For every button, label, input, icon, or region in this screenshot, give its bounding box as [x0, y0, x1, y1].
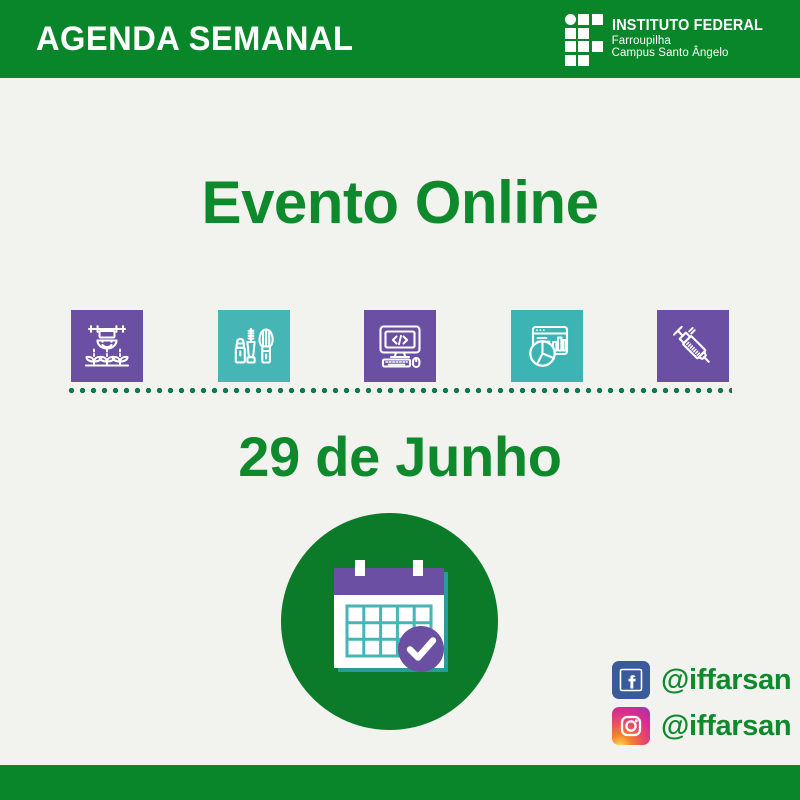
social-row-instagram[interactable]: @iffarsan [612, 707, 791, 745]
syringe-icon [657, 310, 729, 382]
brand-text: INSTITUTO FEDERAL Farroupilha Campus San… [612, 18, 774, 60]
dotted-divider [66, 387, 732, 394]
brand-campus-region: Farroupilha [612, 35, 774, 47]
instituto-federal-logo-icon [565, 14, 603, 64]
social-links: @iffarsan @iffarsan [612, 661, 791, 745]
brand-institute-name: INSTITUTO FEDERAL [612, 18, 763, 35]
calendar-check-icon [325, 558, 455, 686]
category-icon-row [71, 310, 729, 382]
brand-campus-name: Campus Santo Ângelo [612, 47, 774, 59]
analytics-dashboard-icon [511, 310, 583, 382]
social-row-facebook[interactable]: @iffarsan [612, 661, 791, 699]
code-monitor-icon [364, 310, 436, 382]
cosmetics-makeup-icon [218, 310, 290, 382]
page-footer [0, 765, 800, 800]
instagram-icon[interactable] [612, 707, 650, 745]
instagram-handle[interactable]: @iffarsan [661, 710, 791, 743]
agriculture-drone-icon [71, 310, 143, 382]
event-date: 29 de Junho [0, 424, 800, 489]
brand-lockup: INSTITUTO FEDERAL Farroupilha Campus San… [565, 14, 782, 64]
facebook-icon[interactable] [612, 661, 650, 699]
page-title: AGENDA SEMANAL [36, 22, 353, 56]
facebook-handle[interactable]: @iffarsan [661, 664, 791, 697]
event-title: Evento Online [0, 168, 800, 237]
page-header: AGENDA SEMANAL INSTITUTO FEDERAL Farroup… [0, 0, 800, 78]
calendar-badge [281, 513, 498, 730]
